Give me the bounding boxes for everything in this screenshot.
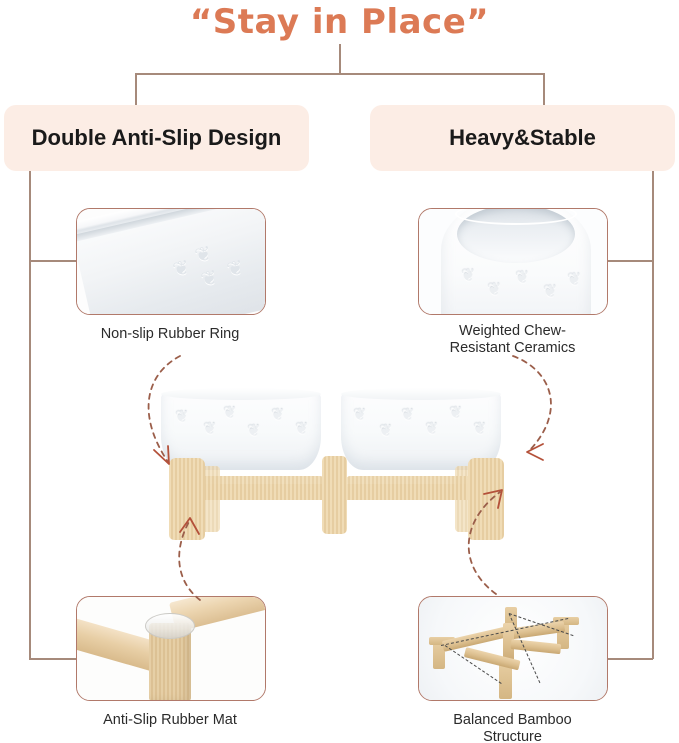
paw-print-icon: ❦: [543, 283, 557, 300]
bamboo-front-leg-left: [169, 458, 205, 540]
caption-line: Balanced Bamboo: [405, 712, 620, 729]
connector-tick-right-bottom: [604, 658, 653, 660]
paw-print-icon: ❦: [353, 408, 366, 424]
infographic-canvas: “Stay in Place” Double Anti-Slip Design …: [0, 0, 679, 743]
connector-rail-left: [29, 171, 31, 659]
paw-print-icon: ❦: [295, 422, 308, 438]
rubber-pad-highlight: [145, 613, 195, 639]
caption-line: Non-slip Rubber Ring: [60, 326, 280, 343]
product-photo-rubber-mat: [77, 597, 265, 700]
paw-print-icon: ❦: [247, 424, 260, 440]
branch-label-text: Heavy&Stable: [449, 125, 596, 151]
connector-horizontal-bar: [135, 73, 544, 75]
branch-label-text: Double Anti-Slip Design: [32, 125, 282, 151]
paw-print-icon: ❦: [449, 406, 462, 422]
hero-product-image: ❦ ❦ ❦ ❦ ❦ ❦ ❦ ❦ ❦ ❦ ❦ ❦: [150, 392, 530, 542]
bamboo-center-post: [322, 456, 347, 534]
paw-print-icon: ❦: [515, 269, 529, 286]
feature-caption-anti-slip-rubber-mat: Anti-Slip Rubber Mat: [60, 712, 280, 729]
bamboo-front-leg-right: [468, 458, 504, 540]
branch-label-heavy-and-stable: Heavy&Stable: [370, 105, 675, 171]
feature-caption-balanced-bamboo-structure: Balanced Bamboo Structure: [405, 712, 620, 743]
connector-tick-left-bottom: [29, 658, 78, 660]
paw-print-icon: ❦: [473, 422, 486, 438]
caption-line: Structure: [405, 729, 620, 743]
caption-line: Resistant Ceramics: [405, 340, 620, 357]
product-photo-bamboo-frame: [419, 597, 607, 700]
feature-caption-weighted-chew-resistant-ceramics: Weighted Chew- Resistant Ceramics: [405, 323, 620, 357]
paw-print-icon: ❦: [425, 422, 438, 438]
connector-drop-right: [543, 73, 545, 105]
paw-print-icon: ❦: [203, 422, 216, 438]
connector-tick-right-top: [604, 260, 653, 262]
connector-tick-left-top: [29, 260, 78, 262]
product-photo-rubber-ring: ❦ ❦ ❦ ❦: [77, 209, 265, 314]
caption-line: Weighted Chew-: [405, 323, 620, 340]
paw-print-icon: ❦: [487, 281, 501, 298]
connector-rail-right: [652, 171, 654, 659]
feature-thumbnail-weighted-chew-resistant-ceramics: ❦ ❦ ❦ ❦ ❦: [418, 208, 608, 315]
paw-print-icon: ❦: [379, 424, 392, 440]
feature-thumbnail-non-slip-rubber-ring: ❦ ❦ ❦ ❦: [76, 208, 266, 315]
feature-caption-non-slip-rubber-ring: Non-slip Rubber Ring: [60, 326, 280, 343]
feature-thumbnail-anti-slip-rubber-mat: [76, 596, 266, 701]
product-photo-ceramic-bowl: ❦ ❦ ❦ ❦ ❦: [419, 209, 607, 314]
connector-title-stem: [339, 44, 341, 74]
page-title: “Stay in Place”: [0, 2, 679, 42]
paw-print-icon: ❦: [567, 271, 581, 288]
paw-print-icon: ❦: [175, 410, 188, 426]
branch-label-double-anti-slip-design: Double Anti-Slip Design: [4, 105, 309, 171]
paw-print-icon: ❦: [271, 408, 284, 424]
paw-print-icon: ❦: [461, 267, 475, 284]
paw-print-icon: ❦: [223, 406, 236, 422]
feature-thumbnail-balanced-bamboo-structure: [418, 596, 608, 701]
connector-drop-left: [135, 73, 137, 105]
caption-line: Anti-Slip Rubber Mat: [60, 712, 280, 729]
paw-print-icon: ❦: [401, 408, 414, 424]
